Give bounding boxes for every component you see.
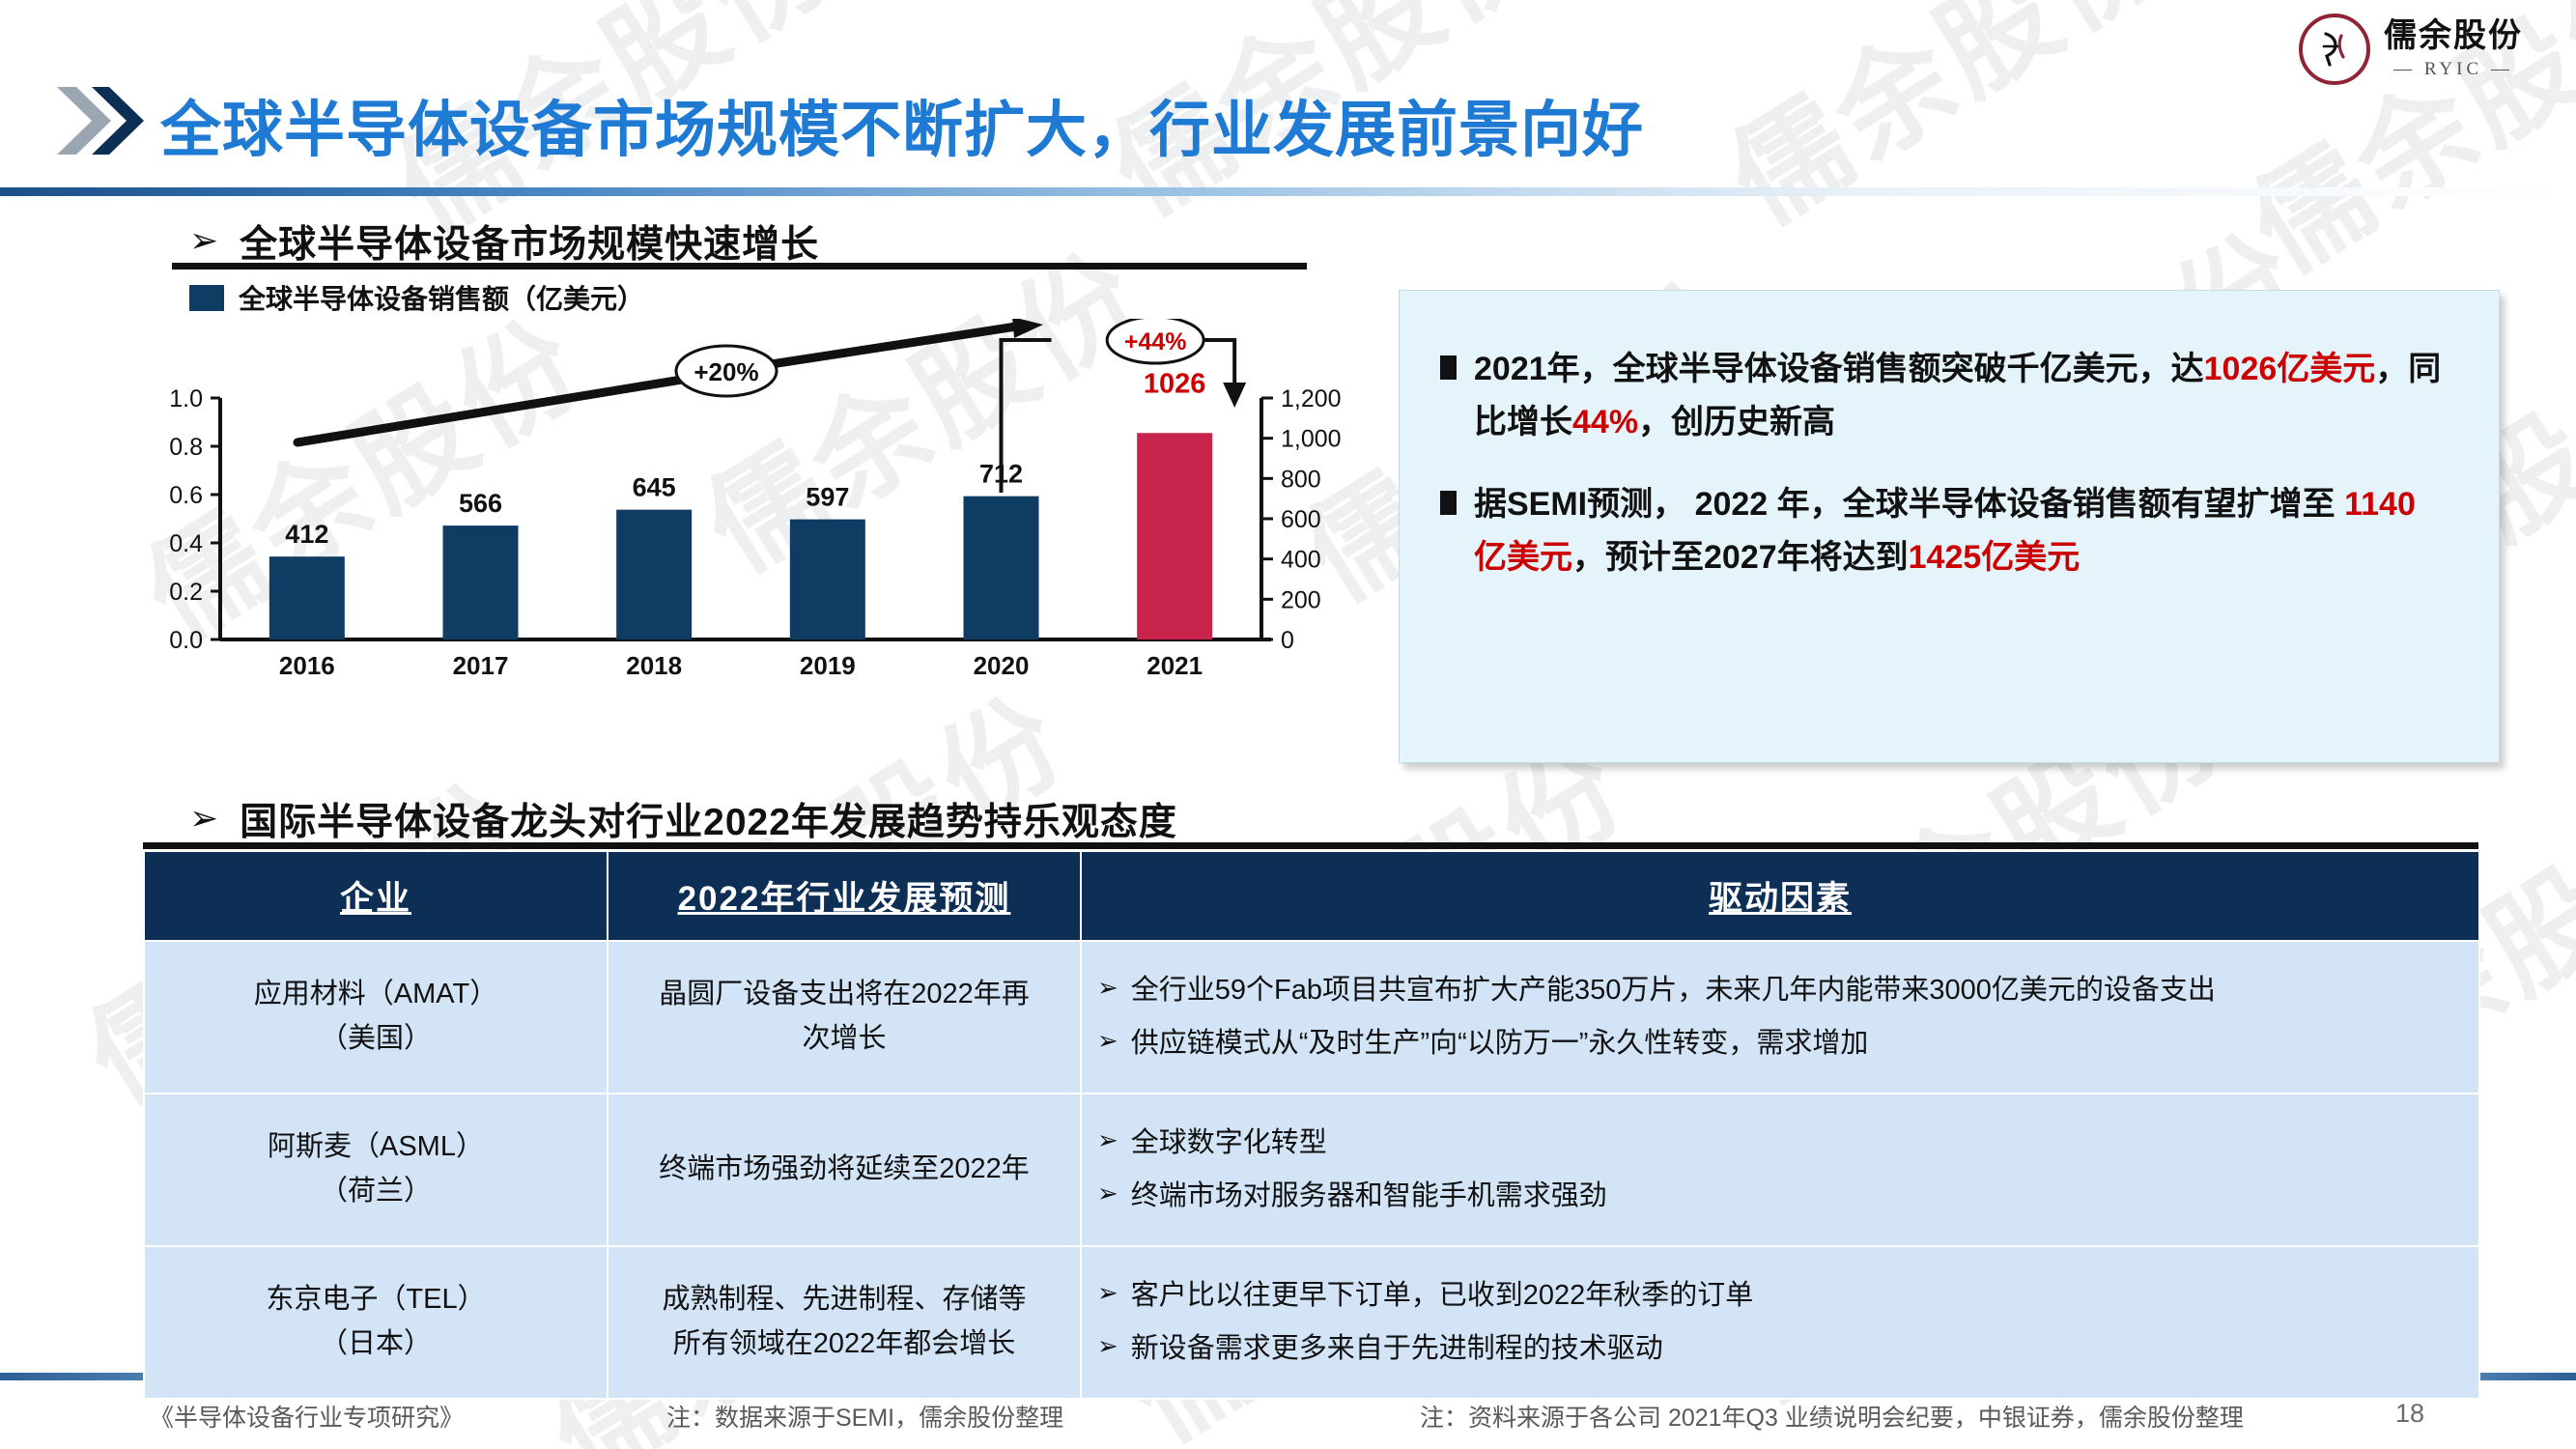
chevron-right-icon: ➢ xyxy=(1097,1122,1118,1160)
left-axis-tick-label: 0.8 xyxy=(169,434,203,461)
bar-2016 xyxy=(269,556,345,639)
slide-footer: 《半导体设备行业专项研究》 注：数据来源于SEMI，儒余股份整理 注：资料来源于… xyxy=(0,1391,2576,1449)
bar-value-label: 645 xyxy=(633,473,676,502)
chevron-right-icon: ➢ xyxy=(1097,1275,1118,1313)
chevron-right-icon: ➢ xyxy=(1097,1023,1118,1061)
driver-list-item: ➢新设备需求更多来自于先进制程的技术驱动 xyxy=(1097,1328,2463,1371)
bar-value-label: 597 xyxy=(806,483,849,512)
ryic-emblem-icon xyxy=(2299,14,2370,85)
table-row: 应用材料（AMAT）（美国）晶圆厂设备支出将在2022年再次增长➢全行业59个F… xyxy=(144,941,2479,1094)
left-axis-tick-label: 0.6 xyxy=(169,482,203,509)
section2-underline xyxy=(143,842,2478,849)
info-bullet-2-text: 据SEMI预测， 2022 年，全球半导体设备销售额有望扩增至 1140 亿美元… xyxy=(1474,478,2452,584)
info-bullet-1: 2021年，全球半导体设备销售额突破千亿美元，达1026亿美元，同比增长44%，… xyxy=(1440,343,2452,449)
bar-2019 xyxy=(790,520,865,639)
trend-arrowhead xyxy=(1012,319,1043,338)
driver-text: 供应链模式从“及时生产”向“以防万一”永久性转变，需求增加 xyxy=(1131,1023,1869,1065)
chevron-right-icon: ➢ xyxy=(1097,1176,1118,1213)
bar-value-label: 566 xyxy=(459,489,502,518)
growth-arrowhead xyxy=(1223,383,1246,408)
left-axis-tick-label: 0.0 xyxy=(169,627,203,654)
square-bullet-icon xyxy=(1440,355,1457,380)
driver-list-item: ➢供应链模式从“及时生产”向“以防万一”永久性转变，需求增加 xyxy=(1097,1023,2463,1065)
trend-line-left xyxy=(297,379,688,442)
bar-2018 xyxy=(616,510,692,639)
leaders-outlook-table: 企业 2022年行业发展预测 驱动因素 应用材料（AMAT）（美国）晶圆厂设备支… xyxy=(143,850,2480,1400)
right-axis-tick-label: 600 xyxy=(1281,506,1321,533)
chevron-right-icon: ➢ xyxy=(1097,1328,1118,1366)
logo-company-abbr: — RYIC — xyxy=(2384,60,2523,78)
bar-2021 xyxy=(1137,433,1212,639)
column-header-company: 企业 xyxy=(144,851,608,941)
section-heading-leaders-outlook: ➢ 国际半导体设备龙头对行业2022年发展趋势持乐观态度 xyxy=(189,792,1177,846)
legend-color-swatch xyxy=(189,285,224,311)
right-axis-tick-label: 400 xyxy=(1281,547,1321,574)
section1-title: 全球半导体设备市场规模快速增长 xyxy=(240,214,819,269)
page-number: 18 xyxy=(2395,1399,2424,1429)
table-header-row: 企业 2022年行业发展预测 驱动因素 xyxy=(144,851,2479,941)
chevron-right-icon: ➢ xyxy=(1097,970,1118,1008)
bullet-fragment: ，预计至2027年将达到 xyxy=(1572,539,1909,576)
chart-legend: 全球半导体设备销售额（亿美元） xyxy=(189,278,644,317)
right-axis-tick-label: 0 xyxy=(1281,627,1294,654)
highlight-value: 1026亿美元 xyxy=(2204,351,2376,387)
x-axis-category-label: 2016 xyxy=(279,651,335,680)
cell-drivers: ➢全球数字化转型➢终端市场对服务器和智能手机需求强劲 xyxy=(1081,1094,2479,1246)
bar-value-label: 1026 xyxy=(1144,368,1206,399)
right-axis-tick-label: 200 xyxy=(1281,586,1321,613)
x-axis-category-label: 2017 xyxy=(453,651,509,680)
trend-badge-label: +20% xyxy=(694,357,758,386)
bullet-fragment: ，创历史新高 xyxy=(1638,404,1835,440)
left-axis-tick-label: 0.2 xyxy=(169,579,203,606)
footer-report-name: 《半导体设备行业专项研究》 xyxy=(150,1399,464,1434)
left-axis-tick-label: 0.4 xyxy=(169,530,203,557)
trend-line-right xyxy=(765,327,1016,365)
highlight-value: 44% xyxy=(1572,404,1638,440)
bar-2020 xyxy=(964,497,1039,639)
driver-text: 全行业59个Fab项目共宣布扩大产能350万片，未来几年内能带来3000亿美元的… xyxy=(1131,970,2216,1012)
highlight-value: 1425亿美元 xyxy=(1909,539,2081,576)
driver-list-item: ➢终端市场对服务器和智能手机需求强劲 xyxy=(1097,1176,2463,1218)
x-axis-category-label: 2020 xyxy=(974,651,1030,680)
chevron-right-icon: ➢ xyxy=(189,802,218,837)
highlights-info-box: 2021年，全球半导体设备销售额突破千亿美元，达1026亿美元，同比增长44%，… xyxy=(1399,290,2500,763)
legend-label: 全球半导体设备销售额（亿美元） xyxy=(239,278,644,317)
cell-forecast: 成熟制程、先进制程、存储等所有领域在2022年都会增长 xyxy=(608,1246,1081,1399)
table-row: 东京电子（TEL）（日本）成熟制程、先进制程、存储等所有领域在2022年都会增长… xyxy=(144,1246,2479,1399)
driver-text: 终端市场对服务器和智能手机需求强劲 xyxy=(1131,1176,1607,1218)
chevron-right-icon: ➢ xyxy=(189,224,218,259)
company-logo: 儒余股份 — RYIC — xyxy=(2299,14,2523,85)
cell-forecast: 终端市场强劲将延续至2022年 xyxy=(608,1094,1081,1246)
column-header-forecast: 2022年行业发展预测 xyxy=(608,851,1081,941)
driver-list-item: ➢全行业59个Fab项目共宣布扩大产能350万片，未来几年内能带来3000亿美元… xyxy=(1097,970,2463,1012)
left-axis-tick-label: 1.0 xyxy=(169,385,203,412)
table-row: 阿斯麦（ASML）（荷兰）终端市场强劲将延续至2022年➢全球数字化转型➢终端市… xyxy=(144,1094,2479,1246)
square-bullet-icon xyxy=(1440,491,1457,515)
footer-table-source: 注：资料来源于各公司 2021年Q3 业绩说明会纪要，中银证券，儒余股份整理 xyxy=(1420,1399,2244,1434)
driver-text: 新设备需求更多来自于先进制程的技术驱动 xyxy=(1131,1328,1663,1371)
right-axis-tick-label: 800 xyxy=(1281,466,1321,493)
x-axis-category-label: 2019 xyxy=(800,651,856,680)
bar-chart-semiconductor-equipment-sales: 1.00.80.60.40.20.01,2001,000800600400200… xyxy=(116,319,1372,724)
cell-company: 东京电子（TEL）（日本） xyxy=(144,1246,608,1399)
x-axis-category-label: 2021 xyxy=(1146,651,1203,680)
driver-list-item: ➢客户比以往更早下订单，已收到2022年秋季的订单 xyxy=(1097,1275,2463,1318)
bullet-fragment: 2021年，全球半导体设备销售额突破千亿美元，达 xyxy=(1474,351,2204,387)
cell-drivers: ➢全行业59个Fab项目共宣布扩大产能350万片，未来几年内能带来3000亿美元… xyxy=(1081,941,2479,1094)
bar-2017 xyxy=(443,526,519,639)
info-bullet-1-text: 2021年，全球半导体设备销售额突破千亿美元，达1026亿美元，同比增长44%，… xyxy=(1474,343,2452,449)
info-bullet-2: 据SEMI预测， 2022 年，全球半导体设备销售额有望扩增至 1140 亿美元… xyxy=(1440,478,2452,584)
section1-underline xyxy=(172,263,1307,270)
cell-company: 阿斯麦（ASML）（荷兰） xyxy=(144,1094,608,1246)
section2-title: 国际半导体设备龙头对行业2022年发展趋势持乐观态度 xyxy=(240,792,1177,846)
section-heading-market-growth: ➢ 全球半导体设备市场规模快速增长 xyxy=(189,214,819,269)
growth-badge-label: +44% xyxy=(1124,328,1187,355)
bullet-fragment: 据SEMI预测， 2022 年，全球半导体设备销售额有望扩增至 xyxy=(1474,486,2344,523)
driver-text: 全球数字化转型 xyxy=(1131,1122,1327,1165)
footer-chart-source: 注：数据来源于SEMI，儒余股份整理 xyxy=(666,1399,1063,1434)
right-axis-tick-label: 1,000 xyxy=(1281,426,1342,453)
slide-header: 儒余股份 — RYIC — 全球半导体设备市场规模不断扩大，行业发展前景向好 xyxy=(0,0,2576,193)
page-title: 全球半导体设备市场规模不断扩大，行业发展前景向好 xyxy=(160,81,1644,169)
logo-company-name: 儒余股份 xyxy=(2384,20,2523,53)
bar-value-label: 412 xyxy=(285,520,328,549)
header-divider xyxy=(0,187,2576,196)
column-header-drivers: 驱动因素 xyxy=(1081,851,2479,941)
x-axis-category-label: 2018 xyxy=(626,651,682,680)
cell-forecast: 晶圆厂设备支出将在2022年再次增长 xyxy=(608,941,1081,1094)
right-axis-tick-label: 1,200 xyxy=(1281,385,1342,412)
cell-drivers: ➢客户比以往更早下订单，已收到2022年秋季的订单➢新设备需求更多来自于先进制程… xyxy=(1081,1246,2479,1399)
cell-company: 应用材料（AMAT）（美国） xyxy=(144,941,608,1094)
double-chevron-icon xyxy=(53,83,146,158)
driver-list-item: ➢全球数字化转型 xyxy=(1097,1122,2463,1165)
driver-text: 客户比以往更早下订单，已收到2022年秋季的订单 xyxy=(1131,1275,1754,1318)
